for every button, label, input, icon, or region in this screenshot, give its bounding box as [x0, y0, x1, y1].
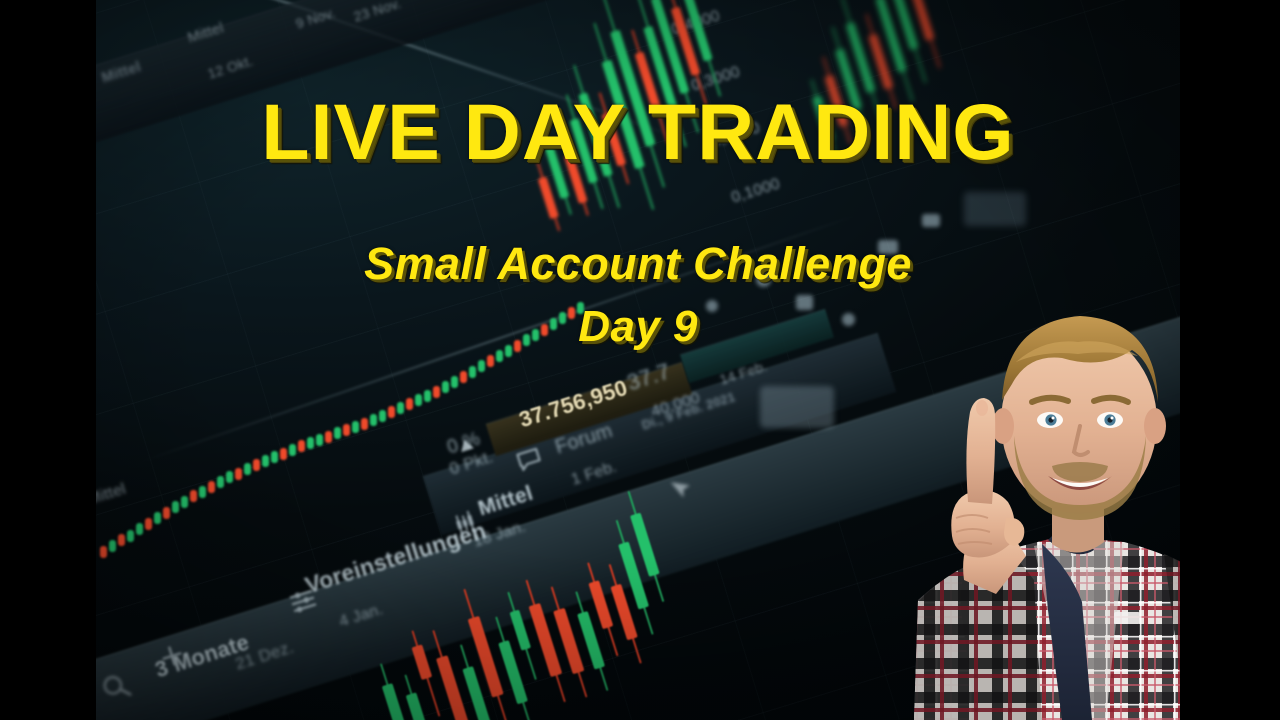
ear-left [992, 408, 1014, 444]
subtitle: Small Account Challenge [96, 238, 1180, 290]
eye-left [1037, 412, 1063, 428]
ear-right [1144, 408, 1166, 444]
pillarbox-right [1180, 0, 1280, 720]
day-counter: Day 9 [96, 302, 1180, 352]
eye-right [1097, 412, 1123, 428]
youtube-thumbnail: Mittel Mittel 12 Okt. 9 Nov. 23 Nov. 0,4… [0, 0, 1280, 720]
shirt-brand-tag [1114, 612, 1140, 624]
thumb [1004, 518, 1024, 546]
page-title: LIVE DAY TRADING [96, 86, 1180, 178]
fingernail [976, 400, 988, 416]
pillarbox-left [0, 0, 96, 720]
